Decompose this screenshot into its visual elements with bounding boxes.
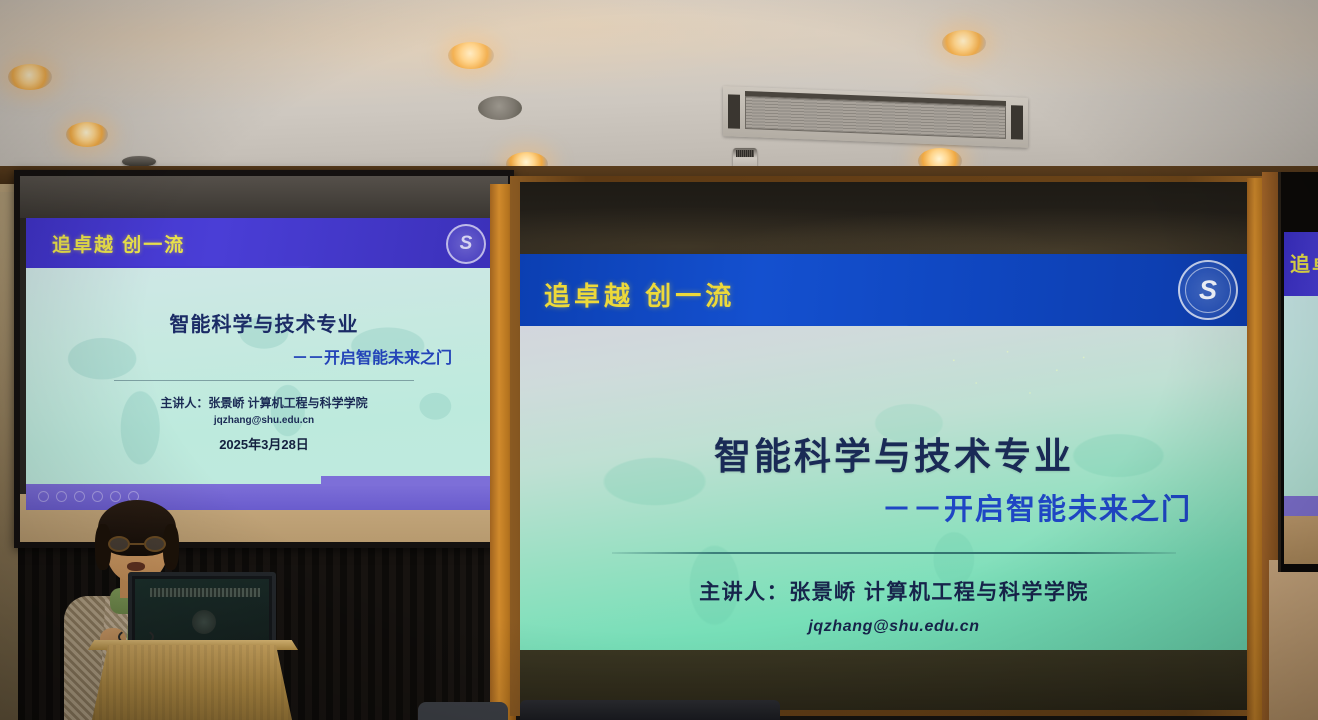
- shanghai-university-emblem: [446, 224, 486, 264]
- previous-slide-icon[interactable]: [38, 491, 49, 502]
- right-slide-slogan: 追卓越: [1290, 248, 1318, 277]
- slide-divider-line: [612, 552, 1176, 554]
- slide-speaker: 主讲人：张景峤 计算机工程与科学学院: [520, 576, 1268, 606]
- recessed-downlight: [8, 64, 52, 90]
- slide-body: 智能科学与技术专业 －－开启智能未来之门 主讲人：张景峤 计算机工程与科学学院 …: [520, 326, 1268, 650]
- wall-panel-right-lower: [1269, 560, 1318, 720]
- right-projection-screen: 追卓越: [1278, 172, 1318, 572]
- recessed-downlight: [942, 30, 986, 56]
- left-slide-header: 追卓越 创一流: [26, 218, 502, 268]
- foreground-table: [520, 700, 780, 720]
- slide-header-banner: 追卓越 创一流 S: [520, 254, 1268, 326]
- left-projection-screen: 追卓越 创一流 智能科学与技术专业 －－开启智能未来之门 主讲人：张景峤 计算机…: [14, 170, 514, 548]
- slide-email: jqzhang@shu.edu.cn: [520, 618, 1268, 636]
- slide-slogan: 追卓越 创一流: [544, 276, 735, 313]
- ceiling: [0, 0, 1318, 178]
- shanghai-university-emblem: S: [1178, 260, 1238, 320]
- recessed-downlight: [448, 42, 494, 69]
- glasses-icon: [108, 536, 166, 552]
- left-slide-email: jqzhang@shu.edu.cn: [26, 415, 502, 426]
- left-screen-slide: 追卓越 创一流 智能科学与技术专业 －－开启智能未来之门 主讲人：张景峤 计算机…: [26, 218, 502, 510]
- lecture-hall-scene: 追卓越 创一流 智能科学与技术专业 －－开启智能未来之门 主讲人：张景峤 计算机…: [0, 0, 1318, 720]
- slide-sparkle-texture: [909, 339, 1133, 410]
- emblem-letter: S: [1180, 262, 1236, 318]
- recessed-downlight: [478, 96, 522, 120]
- recessed-downlight: [66, 122, 108, 147]
- podium: [92, 645, 292, 720]
- recessed-downlight: [930, 100, 972, 125]
- left-slide-slogan: 追卓越 创一流: [52, 230, 185, 257]
- left-slide-subtitle: －－开启智能未来之门: [292, 344, 452, 368]
- ac-vent: [723, 86, 1028, 148]
- main-led-screen: 追卓越 创一流 S 智能科学与技术专业 －－开启智能未来之门 主讲人：张景峤 计…: [520, 182, 1268, 710]
- left-slide-date: 2025年3月28日: [26, 434, 502, 453]
- presenter-mouth: [127, 562, 145, 571]
- slide-subtitle: －－开启智能未来之门: [882, 486, 1192, 528]
- screen-dark-margin-top: [520, 182, 1268, 254]
- left-slide-speaker: 主讲人：张景峤 计算机工程与科学学院: [26, 394, 502, 411]
- presentation-slide: 追卓越 创一流 S 智能科学与技术专业 －－开启智能未来之门 主讲人：张景峤 计…: [520, 254, 1268, 650]
- left-slide-divider: [114, 380, 414, 381]
- slide-title: 智能科学与技术专业: [520, 426, 1268, 480]
- foreground-object: [418, 702, 508, 720]
- left-slide-title: 智能科学与技术专业: [26, 308, 502, 337]
